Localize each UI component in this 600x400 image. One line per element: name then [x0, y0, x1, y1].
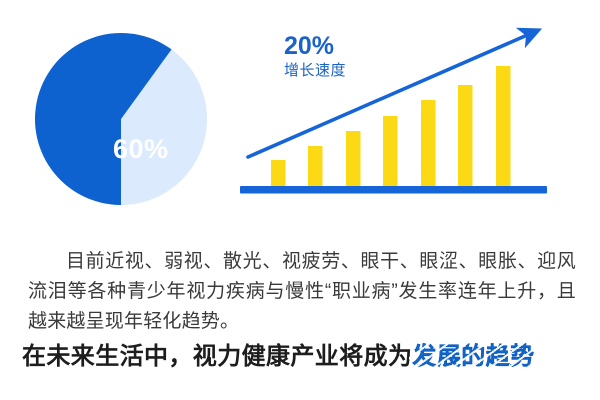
headline-lead: 在未来生活中，视力健康产业将成为	[22, 343, 412, 370]
baseline-bar	[240, 186, 547, 194]
bar-5	[421, 100, 436, 186]
growth-percent: 20%	[284, 32, 414, 61]
pie-chart-svg	[33, 31, 209, 207]
bar-7	[496, 66, 511, 186]
growth-annotation: 20% 增长速度	[284, 32, 414, 79]
body-paragraph: 目前近视、弱视、散光、视疲劳、眼干、眼涩、眼胀、迎风流泪等各种青少年视力疾病与慢…	[28, 247, 576, 337]
bar-3	[346, 131, 361, 186]
infographic-canvas: 60% 20% 增长速度 目前近视、	[0, 0, 600, 400]
headline-accent: 发展的趋势	[412, 340, 534, 374]
bar-1	[271, 160, 286, 186]
growth-caption: 增长速度	[284, 62, 414, 79]
bar-2	[308, 146, 323, 186]
headline: 在未来生活中，视力健康产业将成为发展的趋势	[22, 340, 582, 374]
pie-chart: 60%	[33, 31, 209, 207]
bar-6	[458, 85, 473, 186]
bar-4	[383, 116, 398, 186]
